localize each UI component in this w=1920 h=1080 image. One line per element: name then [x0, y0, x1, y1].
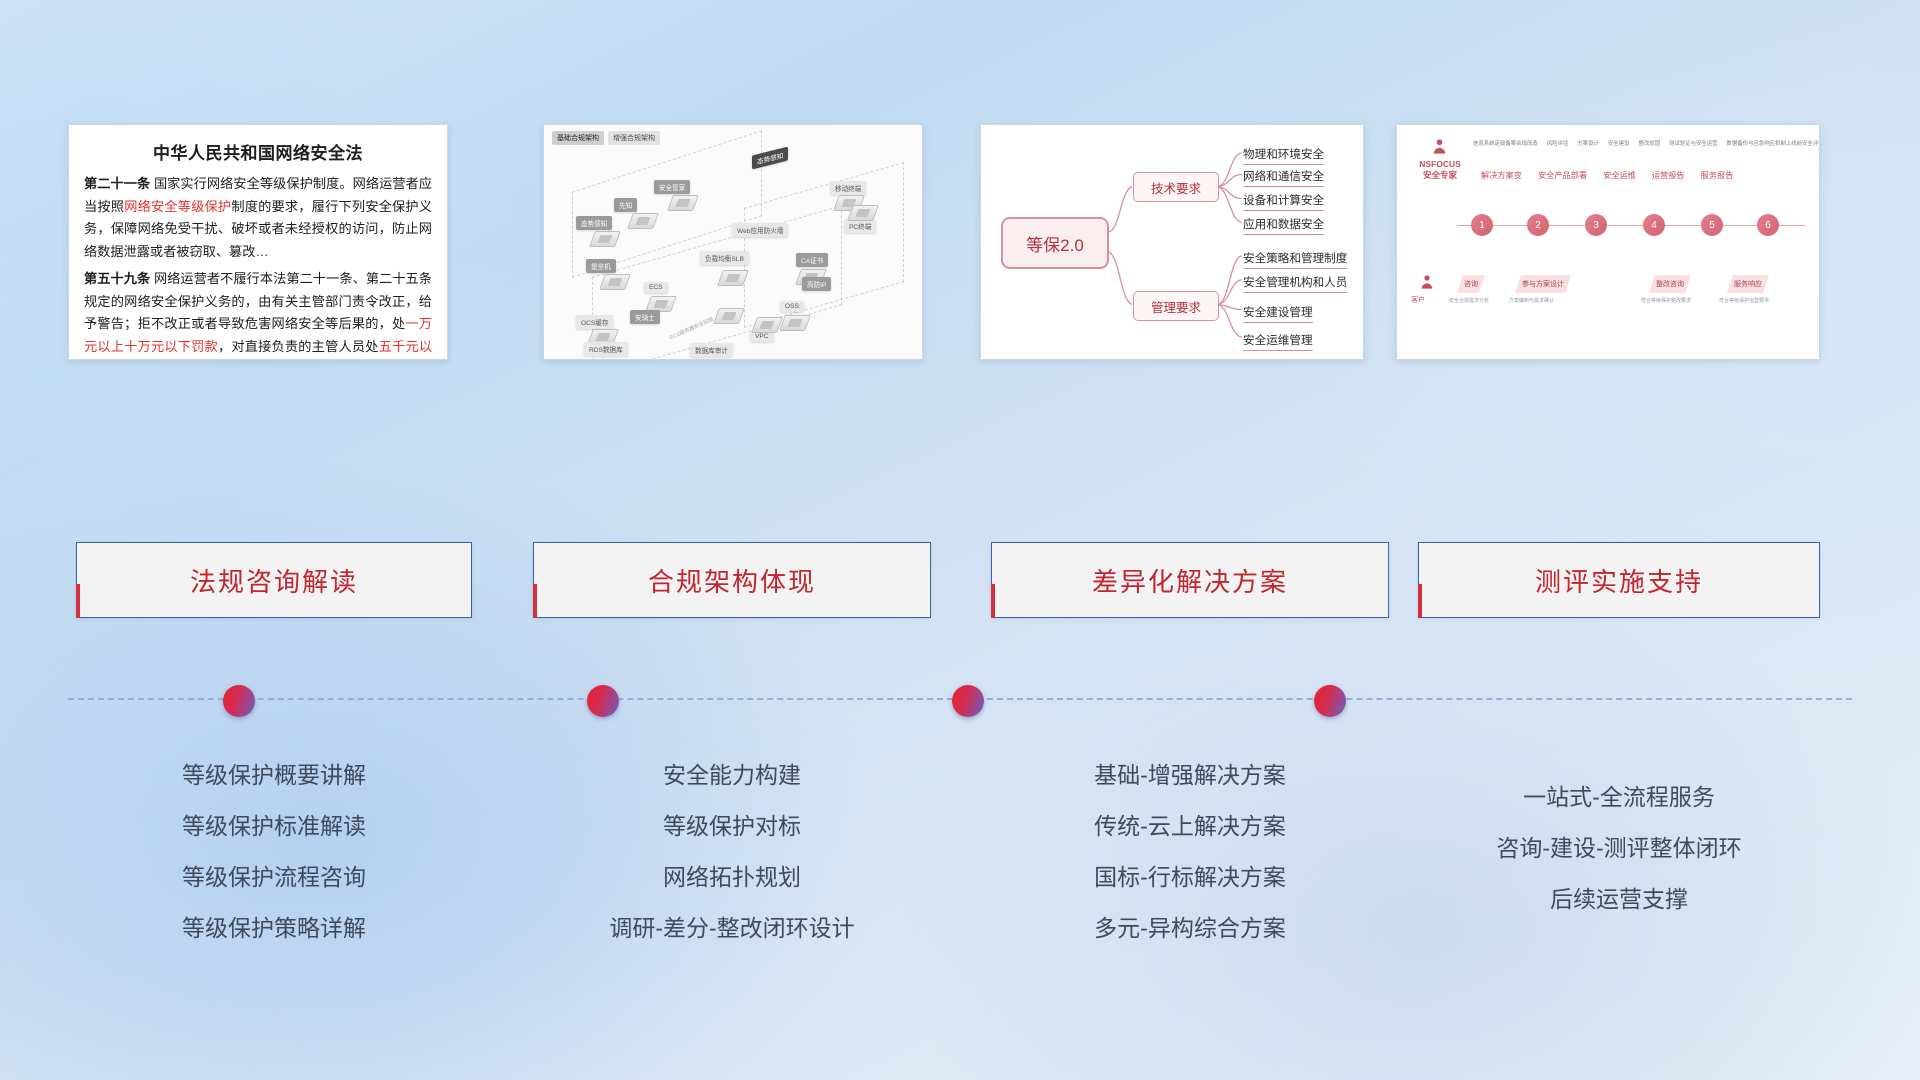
timeline-phases: 解决方案变 安全产品部署 安全运维 运营报告 服务报告	[1481, 169, 1733, 181]
top-item-0: 信息系统定级备案合规改造	[1473, 139, 1538, 147]
mindmap-leaf-construction-mgmt: 安全建设管理	[1243, 304, 1313, 323]
law-document-body: 中华人民共和国网络安全法 第二十一条 国家实行网络安全等级保护制度。网络运营者应…	[69, 125, 447, 360]
stage-banner-label-1: 法规咨询解读	[190, 562, 358, 599]
badge-sub-rectification: 符合等级保护整改要求	[1641, 297, 1691, 304]
timeline-axis	[1457, 225, 1805, 226]
brand-line-2: 安全专家	[1413, 170, 1467, 181]
timeline-dot-2: 2	[1527, 214, 1549, 236]
phase-1: 安全产品部署	[1538, 169, 1587, 181]
phase-0: 解决方案变	[1481, 169, 1522, 181]
top-item-6: 数据备份与应急响应机制上线前安全评估	[1727, 139, 1819, 147]
law-paragraph-1: 第二十一条 国家实行网络安全等级保护制度。网络运营者应当按照网络安全等级保护制度…	[84, 173, 432, 264]
law-highlight-1: 网络安全等级保护	[124, 199, 231, 214]
badge-rectification: 整改咨询	[1649, 275, 1691, 293]
arch-chip-ca-cert: CA证书	[796, 253, 828, 267]
badge-sub-design: 方案编制与需求确认	[1509, 297, 1554, 304]
stage-banner-label-4: 测评实施支持	[1535, 562, 1703, 599]
arch-chip-mobile-terminal: 移动终端	[830, 181, 866, 195]
stage-banner-label-3: 差异化解决方案	[1092, 562, 1288, 599]
list-item: 安全能力构建	[533, 750, 931, 801]
customer-icon	[1419, 273, 1435, 291]
list-item: 等级保护概要讲解	[76, 750, 472, 801]
list-item: 国标-行标解决方案	[991, 852, 1389, 903]
timeline-dot-6: 6	[1757, 214, 1779, 236]
mindmap-leaf-physical-env: 物理和环境安全	[1243, 146, 1324, 165]
list-item: 一站式-全流程服务	[1418, 772, 1820, 823]
mindmap-leaf-policy-system: 安全策略和管理制度	[1243, 250, 1347, 269]
list-item: 等级保护流程咨询	[76, 852, 472, 903]
architecture-diagram: 基础合规架构 增强合规架构 态势感知 安全管家 先知 态势感知 堡垒机 ECS …	[544, 125, 922, 359]
infographic-page: 中华人民共和国网络安全法 第二十一条 国家实行网络安全等级保护制度。网络运营者应…	[0, 0, 1920, 1080]
arch-chip-ecs: ECS	[644, 282, 668, 293]
list-item: 等级保护标准解读	[76, 801, 472, 852]
timeline-top-items: 信息系统定级备案合规改造 风险评估 方案设计 安全建设 整改加固 测试验证与安全…	[1473, 139, 1819, 147]
arch-chip-waf: Web应用防火墙	[732, 223, 788, 237]
timeline-node-3[interactable]	[952, 685, 984, 717]
list-item: 多元-异构综合方案	[991, 903, 1389, 954]
top-item-3: 安全建设	[1608, 139, 1630, 147]
stage-banner-differentiated-solution[interactable]: 差异化解决方案	[991, 542, 1389, 618]
mindmap-leaf-org-personnel: 安全管理机构和人员	[1243, 274, 1347, 293]
mindmap-branch-technical: 技术要求	[1133, 172, 1219, 202]
arch-chip-anqishi: 安骑士	[630, 310, 660, 324]
mindmap-root-node: 等保2.0	[1001, 217, 1109, 269]
detail-list-compliance-architecture: 安全能力构建 等级保护对标 网络拓扑规划 调研-差分-整改闭环设计	[533, 750, 931, 954]
list-item: 基础-增强解决方案	[991, 750, 1389, 801]
process-timeline	[68, 698, 1852, 700]
timeline-dot-1: 1	[1471, 214, 1493, 236]
arch-chip-anti-ddos: 高防IP	[802, 277, 831, 291]
detail-list-regulation-consulting: 等级保护概要讲解 等级保护标准解读 等级保护流程咨询 等级保护策略详解	[76, 750, 472, 954]
detail-list-evaluation-support: 一站式-全流程服务 咨询-建设-测评整体闭环 后续运营支撑	[1418, 772, 1820, 925]
arch-chip-rds-database: RDS数据库	[584, 342, 628, 356]
arch-node-oss	[779, 315, 811, 331]
stage-banner-compliance-architecture[interactable]: 合规架构体现	[533, 542, 931, 618]
timeline-node-4[interactable]	[1314, 685, 1346, 717]
stage-banner-label-2: 合规架构体现	[648, 562, 816, 599]
stage-banner-regulation-consulting[interactable]: 法规咨询解读	[76, 542, 472, 618]
preview-cards-row: 中华人民共和国网络安全法 第二十一条 国家实行网络安全等级保护制度。网络运营者应…	[0, 124, 1920, 364]
security-expert-icon	[1431, 137, 1448, 156]
stage-banner-row: 法规咨询解读 合规架构体现 差异化解决方案 测评实施支持	[0, 542, 1920, 618]
list-item: 调研-差分-整改闭环设计	[533, 903, 931, 954]
law-article-number-2: 第五十九条	[84, 271, 150, 286]
arch-chip-oss: OSS	[780, 301, 804, 312]
mindmap-diagram: 等保2.0 技术要求 管理要求 物理和环境安全 网络和通信安全 设备和计算安全 …	[981, 125, 1363, 359]
service-timeline-diagram: NSFOCUS 安全专家 信息系统定级备案合规改造 风险评估 方案设计 安全建设…	[1397, 125, 1819, 359]
mindmap-branch-management: 管理要求	[1133, 291, 1219, 321]
architecture-zone-network	[744, 162, 904, 328]
arch-chip-security-butler: 安全管家	[654, 180, 690, 194]
badge-sub-service: 符合等级保护运营要求	[1719, 297, 1769, 304]
phase-4: 服务报告	[1701, 169, 1734, 181]
list-item: 等级保护对标	[533, 801, 931, 852]
top-item-1: 风险评估	[1547, 139, 1569, 147]
timeline-dot-3: 3	[1585, 214, 1607, 236]
phase-3: 运营报告	[1652, 169, 1685, 181]
law-paragraph-2: 第五十九条 网络运营者不履行本法第二十一条、第二十五条规定的网络安全保护义务的，…	[84, 268, 432, 360]
card-mindmap[interactable]: 等保2.0 技术要求 管理要求 物理和环境安全 网络和通信安全 设备和计算安全 …	[980, 124, 1364, 360]
list-item: 等级保护策略详解	[76, 903, 472, 954]
law-text-2b: ，对直接负责的主管人员处	[218, 339, 379, 354]
brand-line-1: NSFOCUS	[1413, 159, 1467, 170]
mindmap-leaf-network-comm: 网络和通信安全	[1243, 168, 1324, 187]
top-item-4: 整改加固	[1638, 139, 1660, 147]
law-title: 中华人民共和国网络安全法	[84, 139, 432, 164]
card-law-document[interactable]: 中华人民共和国网络安全法 第二十一条 国家实行网络安全等级保护制度。网络运营者应…	[68, 124, 448, 360]
stage-banner-evaluation-support[interactable]: 测评实施支持	[1418, 542, 1820, 618]
badge-design-participation: 参与方案设计	[1515, 275, 1571, 293]
list-item: 后续运营支撑	[1418, 874, 1820, 925]
arch-chip-slb: 负载均衡SLB	[700, 251, 749, 265]
arch-chip-pc-terminal: PC终端	[844, 219, 876, 233]
arch-chip-db-audit: 数据库审计	[690, 343, 733, 357]
list-item: 传统-云上解决方案	[991, 801, 1389, 852]
arch-node-vpc	[751, 317, 783, 333]
tab-enhanced-architecture[interactable]: 增强合规架构	[608, 131, 660, 145]
phase-2: 安全运维	[1603, 169, 1636, 181]
mindmap-leaf-ops-mgmt: 安全运维管理	[1243, 332, 1313, 351]
tab-basic-architecture[interactable]: 基础合规架构	[552, 131, 604, 145]
top-item-2: 方案设计	[1577, 139, 1599, 147]
architecture-tabs: 基础合规架构 增强合规架构	[552, 131, 660, 145]
brand-label: NSFOCUS 安全专家	[1413, 159, 1467, 180]
card-service-timeline[interactable]: NSFOCUS 安全专家 信息系统定级备案合规改造 风险评估 方案设计 安全建设…	[1396, 124, 1820, 360]
list-item: 网络拓扑规划	[533, 852, 931, 903]
timeline-node-1[interactable]	[223, 685, 255, 717]
card-cloud-architecture[interactable]: 基础合规架构 增强合规架构 态势感知 安全管家 先知 态势感知 堡垒机 ECS …	[543, 124, 923, 360]
badge-sub-consulting: 安全合规需求分析	[1449, 297, 1489, 304]
list-item: 咨询-建设-测评整体闭环	[1418, 823, 1820, 874]
customer-label: 客户	[1411, 295, 1425, 305]
top-item-5: 测试验证与安全运营	[1669, 139, 1718, 147]
arch-chip-situational-awareness: 态势感知	[576, 216, 612, 230]
timeline-dot-4: 4	[1643, 214, 1665, 236]
mindmap-leaf-device-compute: 设备和计算安全	[1243, 192, 1324, 211]
timeline-dot-5: 5	[1701, 214, 1723, 236]
arch-chip-xianzhi: 先知	[614, 198, 637, 212]
arch-chip-bastion-host: 堡垒机	[586, 259, 616, 273]
badge-consulting: 咨询	[1457, 275, 1485, 293]
arch-chip-ocs-cache: OCS缓存	[576, 315, 613, 329]
timeline-node-2[interactable]	[587, 685, 619, 717]
detail-list-differentiated-solution: 基础-增强解决方案 传统-云上解决方案 国标-行标解决方案 多元-异构综合方案	[991, 750, 1389, 954]
mindmap-leaf-app-data: 应用和数据安全	[1243, 216, 1324, 235]
badge-service-response: 服务响应	[1727, 275, 1769, 293]
law-article-number-1: 第二十一条	[84, 176, 150, 191]
